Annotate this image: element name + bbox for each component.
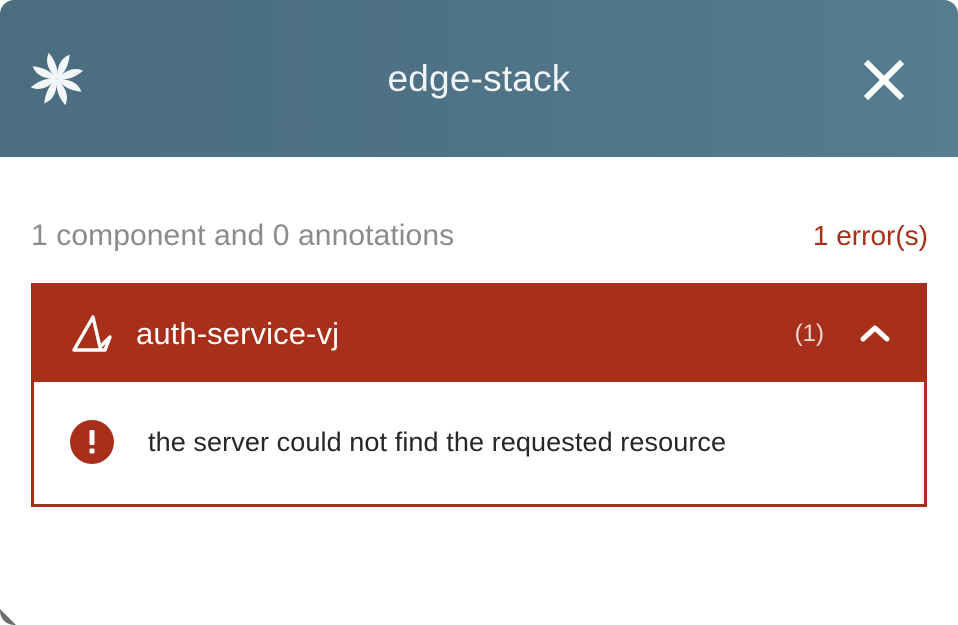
window-title: edge-stack [0,0,958,157]
summary-row: 1 component and 0 annotations 1 error(s) [31,219,928,263]
component-error-badge: (1) [795,320,824,348]
close-icon[interactable] [856,52,912,108]
pinwheel-rosette-icon [28,50,86,108]
list-item: the server could not find the requested … [70,420,896,464]
component-header[interactable]: auth-service-vj (1) [34,286,924,382]
chevron-up-icon[interactable] [854,313,896,355]
component-name-label: auth-service-vj [136,316,339,352]
component-count-label: 1 component and 0 annotations [31,219,454,253]
window-titlebar: edge-stack [0,0,958,157]
error-message-text: the server could not find the requested … [148,427,726,458]
window-title-text: edge-stack [388,58,571,100]
edge-stack-window: edge-stack 1 component and 0 annotations… [0,0,958,625]
ambassador-a-mark-icon [68,312,116,356]
error-exclamation-icon [70,420,114,464]
component-error-list: the server could not find the requested … [34,382,924,504]
error-count-label: 1 error(s) [813,220,928,252]
resize-grip[interactable] [0,599,22,625]
window-content: 1 component and 0 annotations 1 error(s)… [0,157,958,625]
component-panel: auth-service-vj (1) [31,283,927,507]
